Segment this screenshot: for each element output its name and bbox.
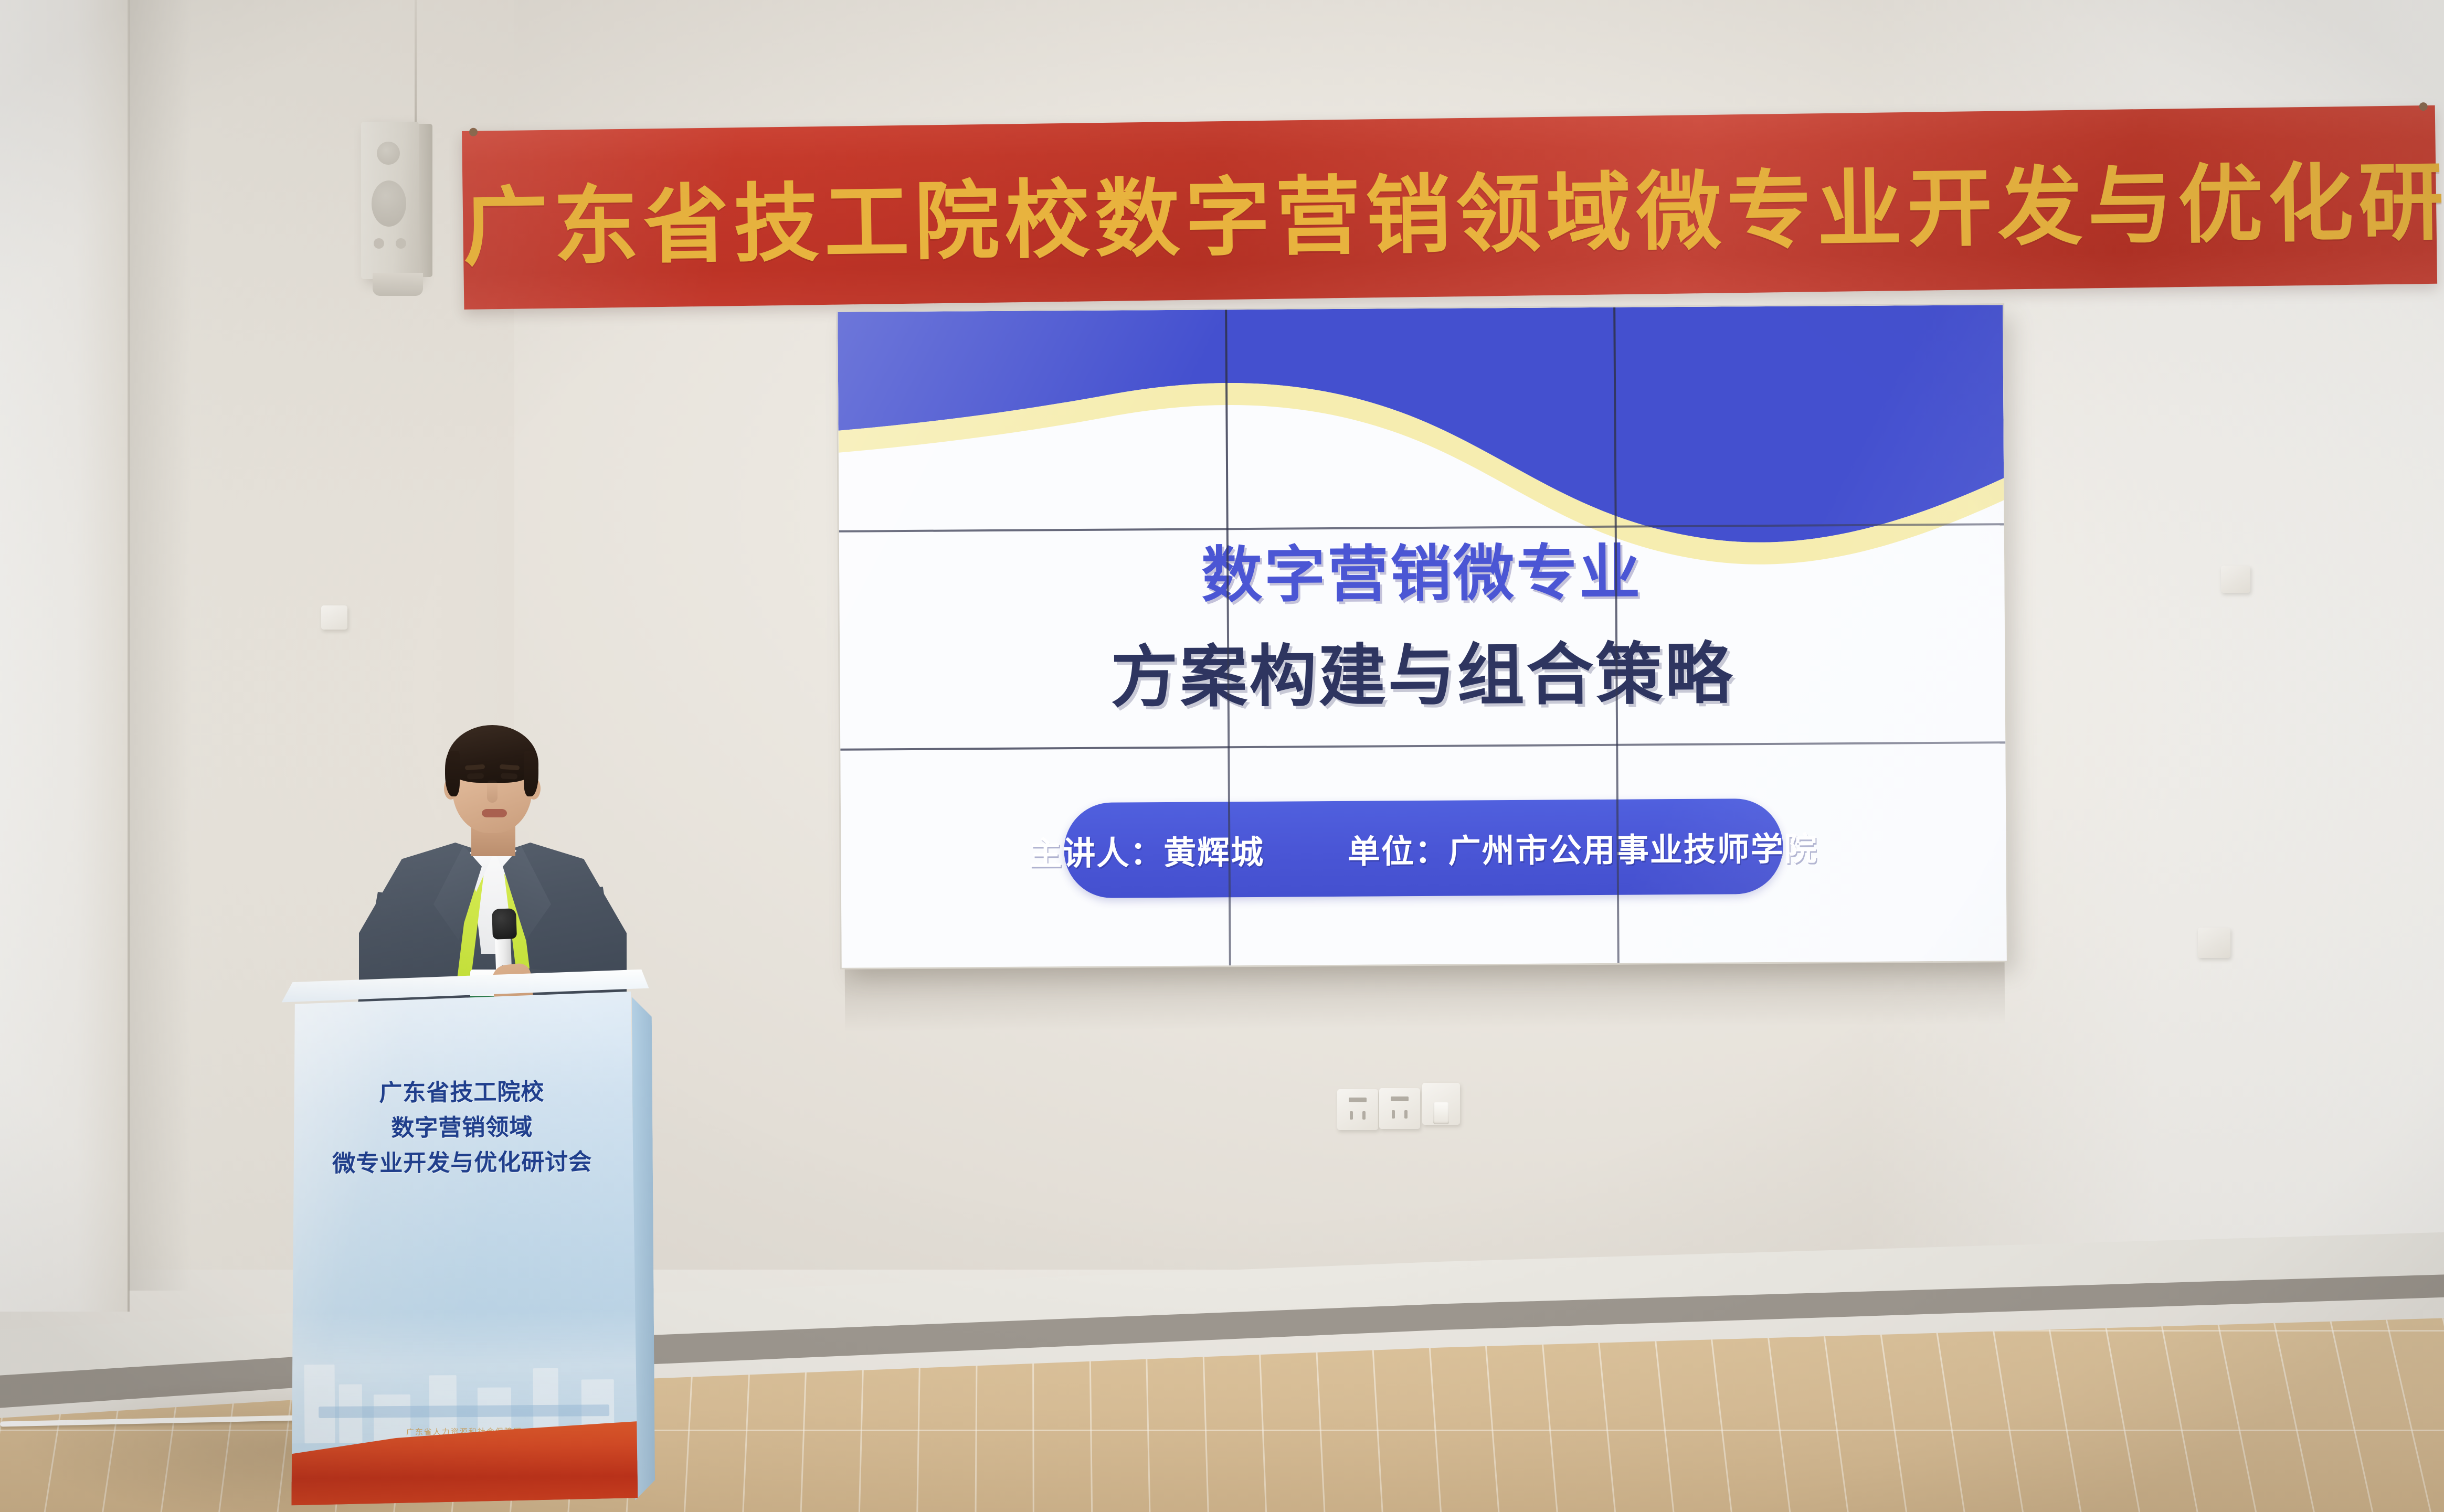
microphone-head-icon bbox=[492, 908, 517, 940]
event-banner: 广东省技工院校数字营销领域微专业开发与优化研讨会 bbox=[462, 105, 2437, 310]
outlet-prong-right bbox=[1362, 1111, 1366, 1120]
lectern-cityscape-graphic bbox=[290, 1310, 638, 1444]
light-switch-rocker[interactable] bbox=[1433, 1102, 1449, 1124]
banner-title-text: 广东省技工院校数字营销领域微专业开发与优化研讨会 bbox=[462, 133, 2437, 282]
banner-pin-left bbox=[469, 128, 478, 136]
speaker-tweeter bbox=[377, 142, 400, 165]
presentation-slide: 数字营销微专业 方案构建与组合策略 主讲人：黄辉城 单位：广州市公用事业技师学院 bbox=[838, 305, 2007, 968]
presentation-room-scene: 广东省技工院校数字营销领域微专业开发与优化研讨会 数字营销微专业 方案构建与组合… bbox=[0, 0, 2444, 1512]
speaker-mount-bracket bbox=[373, 273, 423, 296]
speaker-side-face bbox=[419, 124, 432, 277]
speaker-bar-gap bbox=[1275, 863, 1338, 864]
presenter-mouth bbox=[482, 809, 507, 817]
lectern-front-panel: 广东省技工院校 数字营销领域 微专业开发与优化研讨会 广东省人力资源和社会保障厅 bbox=[288, 992, 638, 1506]
slide-speaker-bar: 主讲人：黄辉城 单位：广州市公用事业技师学院 bbox=[1064, 798, 1783, 898]
left-wall-pillar bbox=[0, 0, 129, 1312]
speaker-woofer bbox=[372, 180, 406, 227]
presenter-eye-right bbox=[501, 773, 518, 780]
presenter-eye-left bbox=[467, 773, 484, 780]
outlet-prong-right bbox=[1404, 1110, 1408, 1119]
wall-outlet-1[interactable] bbox=[1337, 1089, 1378, 1130]
videowall-drop-shadow bbox=[845, 956, 2005, 1031]
outlet-prong-left bbox=[1350, 1111, 1353, 1120]
lectern-title-line-3: 微专业开发与优化研讨会 bbox=[289, 1145, 636, 1182]
speaker-port-right bbox=[396, 238, 406, 249]
slide-speaker-bar-text: 主讲人：黄辉城 单位：广州市公用事业技师学院 bbox=[1029, 822, 1818, 874]
lectern-title-line-2: 数字营销领域 bbox=[289, 1110, 635, 1147]
wall-plate-left[interactable] bbox=[321, 605, 347, 630]
lectern-title-line-1: 广东省技工院校 bbox=[289, 1074, 635, 1112]
organization-label: 单位：广州市公用事业技师学院 bbox=[1348, 831, 1818, 870]
outlet-slot-upper bbox=[1349, 1098, 1367, 1102]
presenter-hair-side-right bbox=[524, 751, 538, 796]
wall-speaker-icon bbox=[361, 122, 419, 279]
banner-pin-right bbox=[2419, 102, 2428, 111]
lectern-title-text: 广东省技工院校 数字营销领域 微专业开发与优化研讨会 bbox=[289, 1074, 636, 1182]
slide-title-line-1: 数字营销微专业 bbox=[839, 521, 2005, 616]
video-wall-display[interactable]: 数字营销微专业 方案构建与组合策略 主讲人：黄辉城 单位：广州市公用事业技师学院 bbox=[838, 305, 2007, 968]
presenter-hair-side-left bbox=[445, 751, 460, 796]
lectern: 广东省技工院校 数字营销领域 微专业开发与优化研讨会 广东省人力资源和社会保障厅 bbox=[288, 992, 654, 1512]
speaker-cable bbox=[415, 0, 417, 125]
pillar-edge bbox=[128, 0, 130, 1312]
alcove-shadow bbox=[129, 0, 192, 1291]
speaker-port-left bbox=[374, 238, 384, 249]
wall-data-plate-right[interactable] bbox=[2198, 928, 2230, 958]
outlet-prong-left bbox=[1392, 1110, 1395, 1119]
presenter-nose bbox=[487, 780, 498, 803]
wall-data-plate-upper-right[interactable] bbox=[2221, 566, 2250, 593]
wall-light-switch[interactable] bbox=[1422, 1083, 1460, 1125]
slide-title-line-2: 方案构建与组合策略 bbox=[840, 617, 2005, 722]
outlet-slot-upper bbox=[1391, 1096, 1409, 1101]
wall-outlet-2[interactable] bbox=[1379, 1088, 1420, 1129]
